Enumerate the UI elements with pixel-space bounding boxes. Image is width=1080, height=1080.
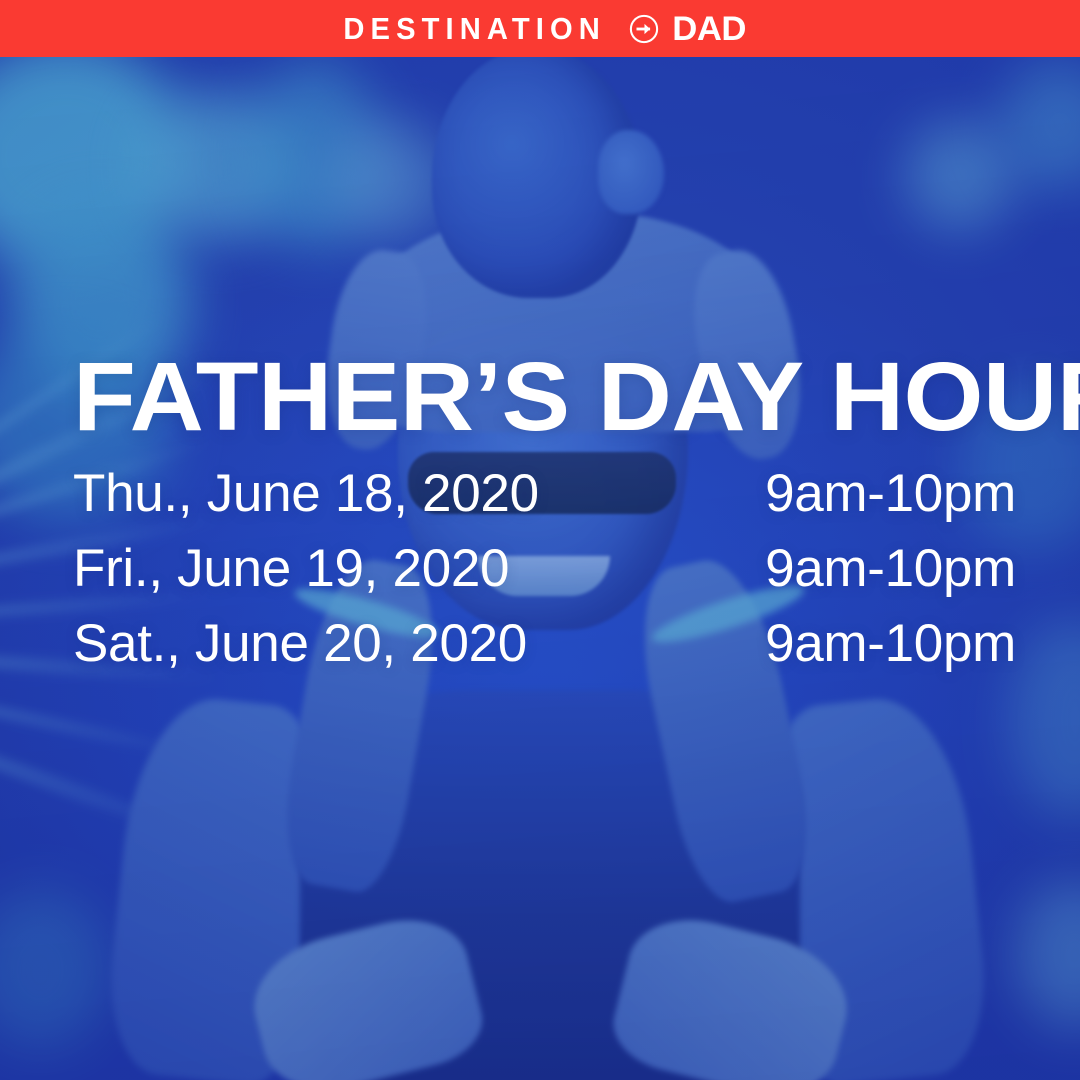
brand-banner: DESTINATION DAD: [0, 0, 1080, 57]
page-title: FATHER’S DAY HOURS: [73, 352, 1073, 441]
brand-lockup: DESTINATION DAD: [335, 12, 744, 46]
hours-day-label: Fri., June 19, 2020: [73, 542, 509, 595]
content-block: FATHER’S DAY HOURS Thu., June 18, 2020 9…: [73, 352, 1016, 670]
hours-row: Fri., June 19, 2020 9am-10pm: [73, 542, 1016, 617]
hours-time-value: 9am-10pm: [765, 542, 1016, 595]
brand-logo-dad: DAD: [672, 12, 746, 46]
hours-row: Sat., June 20, 2020 9am-10pm: [73, 617, 1016, 670]
fathers-day-hours-poster: DESTINATION DAD FATHER’S DAY HOURS Thu.,…: [0, 0, 1080, 1080]
hours-row: Thu., June 18, 2020 9am-10pm: [73, 467, 1016, 542]
hours-list: Thu., June 18, 2020 9am-10pm Fri., June …: [73, 467, 1016, 670]
hours-day-label: Thu., June 18, 2020: [73, 467, 539, 520]
arrow-right-circle-icon: [629, 14, 659, 44]
hours-time-value: 9am-10pm: [765, 617, 1016, 670]
hours-time-value: 9am-10pm: [765, 467, 1016, 520]
hours-day-label: Sat., June 20, 2020: [73, 617, 527, 670]
brand-word-destination: DESTINATION: [344, 13, 607, 44]
